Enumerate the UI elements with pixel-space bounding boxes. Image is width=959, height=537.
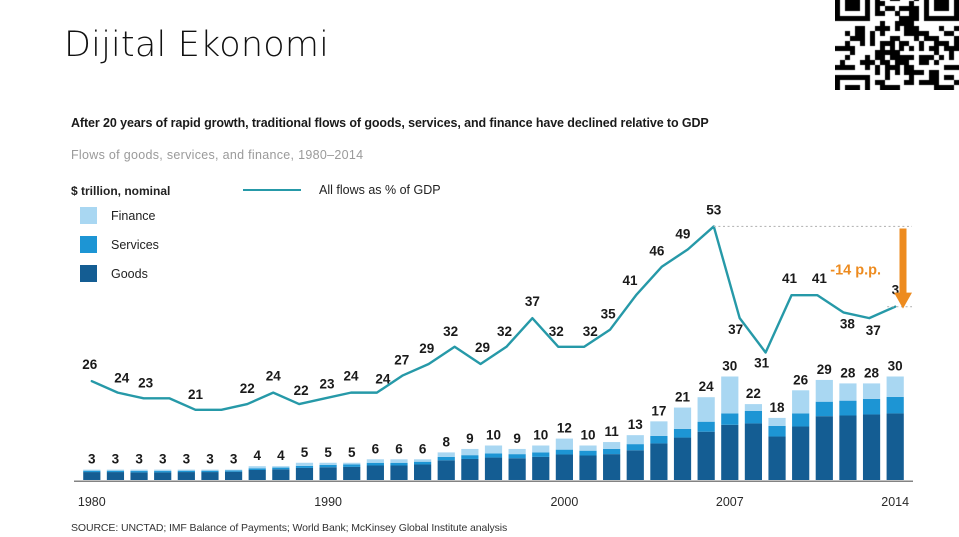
bar-value-label: 10 (486, 428, 501, 443)
bar-value-label: 3 (135, 452, 143, 467)
line-value-label: 41 (812, 271, 828, 286)
x-tick-label: 2014 (881, 495, 909, 509)
line-value-label: 24 (266, 369, 282, 384)
bar-segment-services (887, 397, 904, 414)
line-value-label: 24 (375, 372, 391, 387)
bar-segment-services (603, 449, 620, 454)
bar-segment-finance (816, 380, 833, 402)
bar-segment-finance (390, 459, 407, 462)
bar-segment-services (745, 411, 762, 423)
bar-column (107, 470, 124, 480)
bar-value-label: 10 (533, 428, 548, 443)
bar-segment-goods (745, 423, 762, 480)
bar-value-label: 5 (301, 445, 309, 460)
bar-segment-goods (509, 458, 526, 480)
bar-segment-finance (83, 470, 100, 471)
bar-value-label: 3 (230, 452, 238, 467)
bar-segment-finance (130, 470, 147, 471)
bar-column (816, 380, 833, 480)
bar-value-label: 3 (183, 452, 191, 467)
bar-segment-services (556, 450, 573, 455)
bar-column (792, 390, 809, 480)
bar-value-label: 3 (112, 452, 120, 467)
bar-segment-services (816, 402, 833, 416)
bar-segment-services (343, 464, 360, 466)
bar-segment-services (674, 429, 691, 438)
bar-column (768, 418, 785, 480)
bar-segment-finance (320, 463, 337, 465)
bar-segment-services (130, 471, 147, 472)
bar-segment-finance (603, 442, 620, 449)
bar-segment-services (367, 463, 384, 466)
line-value-label: 32 (443, 324, 458, 339)
bar-segment-finance (698, 397, 715, 422)
bar-value-label: 3 (159, 452, 167, 467)
bar-column (698, 397, 715, 480)
bar-value-label: 9 (466, 431, 474, 446)
bar-value-label: 22 (746, 386, 761, 401)
bar-segment-goods (390, 466, 407, 480)
bar-segment-goods (698, 432, 715, 480)
bar-segment-goods (650, 443, 667, 480)
bar-value-label: 10 (580, 428, 595, 443)
line-value-label: 37 (866, 323, 881, 338)
line-value-label: 37 (728, 322, 743, 337)
bar-segment-finance (485, 446, 502, 454)
bar-segment-goods (320, 467, 337, 480)
bar-segment-services (698, 422, 715, 432)
bar-segment-goods (627, 450, 644, 480)
bar-segment-goods (674, 438, 691, 480)
slide-canvas: Dijital Ekonomi After 20 years of rapid … (0, 0, 959, 537)
bar-segment-services (438, 457, 455, 460)
bar-segment-finance (627, 435, 644, 444)
bar-value-label: 9 (513, 431, 521, 446)
bar-segment-services (107, 471, 124, 472)
line-value-label: 53 (706, 202, 722, 217)
bar-segment-finance (367, 459, 384, 462)
bar-segment-finance (674, 408, 691, 429)
line-value-label: 26 (82, 357, 98, 372)
bar-column (532, 446, 549, 481)
bar-column (650, 421, 667, 480)
bar-segment-goods (816, 416, 833, 480)
x-tick-label: 2007 (716, 495, 744, 509)
bar-segment-services (532, 452, 549, 456)
bar-value-label: 11 (605, 424, 620, 439)
bar-segment-goods (839, 415, 856, 480)
bar-value-label: 13 (628, 417, 644, 432)
line-value-label: 27 (394, 352, 409, 367)
x-tick-label: 1990 (314, 495, 342, 509)
bar-segment-finance (154, 470, 171, 471)
bar-segment-goods (225, 472, 242, 480)
bar-segment-goods (83, 472, 100, 480)
bar-column (461, 449, 478, 480)
gdp-share-line (92, 226, 895, 409)
bar-segment-goods (556, 454, 573, 480)
line-value-label: 22 (240, 381, 255, 396)
bar-segment-services (390, 463, 407, 466)
bar-value-label: 24 (699, 379, 715, 394)
bar-value-label: 28 (840, 365, 856, 380)
bar-column (249, 466, 266, 480)
chart-plot-area: 3333333445556668910910121011131721243022… (0, 105, 959, 537)
bar-column (414, 459, 431, 480)
bar-segment-finance (461, 449, 478, 455)
bar-column (296, 463, 313, 480)
bar-column (367, 459, 384, 480)
bar-segment-goods (863, 414, 880, 480)
bar-column (603, 442, 620, 480)
bar-segment-goods (887, 413, 904, 480)
bar-segment-finance (107, 470, 124, 471)
bar-segment-goods (438, 460, 455, 480)
page-title: Dijital Ekonomi (64, 25, 329, 65)
bar-value-label: 6 (395, 441, 403, 456)
bar-value-label: 4 (277, 448, 285, 463)
bar-segment-finance (249, 466, 266, 468)
line-value-label: 31 (754, 356, 770, 371)
bar-column (745, 404, 762, 480)
line-value-label: 32 (583, 324, 598, 339)
bar-segment-goods (296, 468, 313, 480)
bar-column (178, 470, 195, 480)
bar-segment-finance (509, 449, 526, 454)
bar-segment-goods (272, 469, 289, 480)
line-value-label: 24 (343, 369, 359, 384)
bar-segment-services (272, 468, 289, 470)
bar-segment-services (83, 471, 100, 472)
exhibit-container: After 20 years of rapid growth, traditio… (0, 105, 959, 537)
bar-segment-goods (792, 427, 809, 480)
line-value-label: 29 (475, 340, 490, 355)
bar-segment-services (154, 471, 171, 472)
bar-segment-services (178, 471, 195, 472)
line-value-label: 23 (138, 375, 154, 390)
bar-value-label: 3 (206, 452, 214, 467)
bar-segment-finance (556, 439, 573, 450)
bar-segment-goods (721, 425, 738, 480)
bar-segment-finance (272, 466, 289, 467)
bar-column (390, 459, 407, 480)
bar-segment-services (225, 470, 242, 471)
bar-segment-goods (768, 437, 785, 480)
bar-segment-services (839, 401, 856, 416)
line-value-label: 49 (675, 226, 690, 241)
bar-segment-services (414, 462, 431, 465)
bar-segment-services (296, 466, 313, 468)
bar-column (627, 435, 644, 480)
bar-segment-services (863, 399, 880, 415)
line-value-label: 23 (320, 376, 336, 391)
bar-column (343, 463, 360, 480)
bar-column (485, 446, 502, 481)
qr-code-icon (835, 0, 959, 90)
bar-segment-services (461, 455, 478, 459)
bar-value-label: 5 (324, 445, 332, 460)
bar-segment-finance (178, 470, 195, 471)
decline-annotation-label: -14 p.p. (830, 262, 881, 278)
bar-column (154, 470, 171, 480)
bar-column (130, 470, 147, 480)
bar-segment-goods (130, 472, 147, 480)
line-value-label: 41 (623, 273, 639, 288)
bar-segment-services (320, 465, 337, 467)
bar-value-label: 12 (557, 421, 572, 436)
bar-segment-services (627, 444, 644, 450)
line-value-label: 37 (525, 294, 540, 309)
bar-value-label: 18 (770, 400, 786, 415)
bar-segment-finance (414, 459, 431, 461)
bar-value-label: 21 (675, 390, 691, 405)
bar-column (438, 452, 455, 480)
x-tick-label: 1980 (78, 495, 106, 509)
line-value-label: 29 (419, 341, 434, 356)
bar-segment-services (768, 426, 785, 437)
bar-column (225, 470, 242, 480)
bar-segment-services (201, 471, 218, 472)
bar-value-label: 5 (348, 445, 356, 460)
bar-segment-services (249, 468, 266, 470)
bar-column (83, 470, 100, 480)
bar-segment-goods (249, 470, 266, 480)
line-value-label: 32 (549, 324, 564, 339)
bar-segment-finance (745, 404, 762, 411)
bar-column (556, 439, 573, 480)
bar-segment-goods (367, 466, 384, 480)
bar-value-label: 8 (442, 434, 450, 449)
bar-segment-goods (603, 454, 620, 480)
line-value-label: 22 (294, 383, 309, 398)
line-value-label: 46 (649, 244, 665, 259)
bar-segment-finance (650, 421, 667, 435)
bar-segment-goods (154, 472, 171, 480)
bar-segment-finance (863, 383, 880, 399)
line-value-label: 35 (601, 307, 617, 322)
bar-value-label: 28 (864, 365, 880, 380)
bar-segment-services (721, 413, 738, 424)
bar-value-label: 30 (888, 359, 903, 374)
bar-column (272, 466, 289, 480)
bar-column (320, 463, 337, 480)
bar-segment-goods (485, 458, 502, 480)
bar-value-label: 30 (722, 359, 737, 374)
bar-segment-goods (461, 459, 478, 480)
bar-segment-finance (721, 377, 738, 414)
bar-column (863, 383, 880, 480)
bar-value-label: 29 (817, 362, 832, 377)
bar-column (674, 408, 691, 480)
bar-segment-finance (579, 446, 596, 451)
bar-segment-finance (343, 463, 360, 465)
x-tick-label: 2000 (550, 495, 578, 509)
bar-segment-goods (201, 472, 218, 480)
bar-segment-finance (225, 470, 242, 471)
line-value-label: 32 (497, 324, 512, 339)
bar-segment-services (509, 454, 526, 458)
bar-segment-goods (414, 464, 431, 480)
bar-column (509, 449, 526, 480)
bar-segment-services (579, 451, 596, 456)
bar-segment-goods (532, 457, 549, 480)
bar-segment-finance (792, 390, 809, 413)
bar-segment-goods (343, 467, 360, 480)
bar-value-label: 6 (372, 441, 380, 456)
bar-column (839, 383, 856, 480)
bar-value-label: 6 (419, 441, 427, 456)
bar-value-label: 3 (88, 452, 96, 467)
bar-column (887, 377, 904, 481)
bar-segment-finance (201, 470, 218, 471)
bar-column (579, 446, 596, 481)
bar-column (721, 377, 738, 481)
bar-segment-finance (887, 377, 904, 397)
bar-segment-finance (532, 446, 549, 453)
line-value-label: 21 (188, 387, 204, 402)
bar-segment-finance (839, 383, 856, 400)
line-value-label: 38 (840, 316, 856, 331)
source-note: SOURCE: UNCTAD; IMF Balance of Payments;… (71, 522, 507, 534)
bar-segment-finance (438, 452, 455, 456)
line-value-label: 24 (114, 371, 130, 386)
line-value-label: 41 (782, 271, 798, 286)
bar-value-label: 17 (651, 403, 666, 418)
bar-segment-finance (296, 463, 313, 466)
bar-value-label: 4 (253, 448, 261, 463)
bar-segment-goods (178, 472, 195, 480)
bar-column (201, 470, 218, 480)
bar-segment-finance (768, 418, 785, 426)
bar-value-label: 26 (793, 372, 809, 387)
bar-segment-services (650, 436, 667, 444)
bar-segment-services (485, 453, 502, 457)
bar-segment-services (792, 413, 809, 426)
bar-segment-goods (579, 456, 596, 481)
bar-segment-goods (107, 472, 124, 480)
